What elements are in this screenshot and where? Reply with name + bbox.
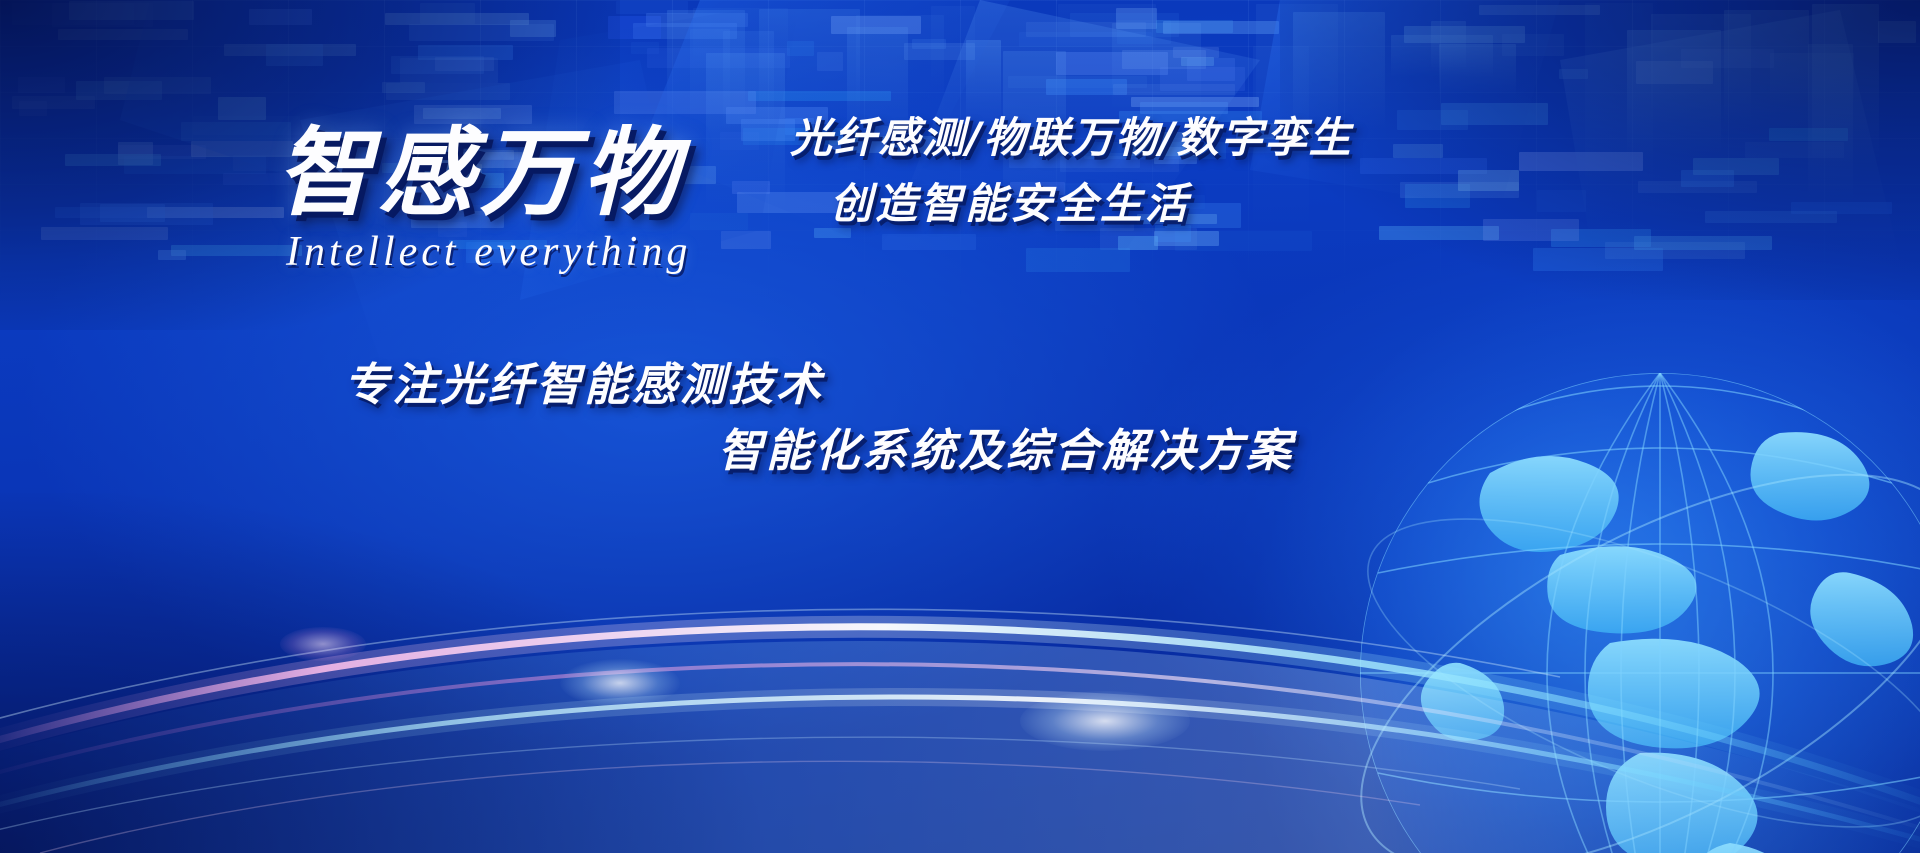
grid-bar <box>1458 170 1519 191</box>
grid-slab <box>690 29 730 135</box>
grid-bar <box>1705 211 1837 223</box>
grid-bar <box>510 20 556 37</box>
grid-bar <box>65 154 161 166</box>
grid-bar <box>382 82 425 93</box>
subtitle-english: Intellect everything <box>286 228 691 276</box>
grid-bar <box>171 245 302 256</box>
grid-bar <box>181 122 291 141</box>
grid-bar <box>249 9 312 25</box>
tagline-line-1: 光纤感测/物联万物/数字孪生 <box>790 104 1353 165</box>
grid-bar <box>435 57 494 71</box>
grid-bar <box>18 77 65 93</box>
grid-bar <box>1379 226 1499 240</box>
grid-bar <box>1537 190 1586 212</box>
grid-slab <box>1812 4 1879 163</box>
grid-bar <box>19 101 47 116</box>
grid-bar <box>1483 219 1579 241</box>
grid-bar <box>1154 231 1219 246</box>
grid-bar <box>1479 5 1600 15</box>
grid-bar <box>158 250 186 260</box>
message-line-2: 智能化系统及综合解决方案 <box>718 414 1294 479</box>
grid-slab <box>1439 44 1516 95</box>
grid-bar <box>1634 236 1772 250</box>
grid-bar <box>1026 248 1130 272</box>
grid-bar <box>58 29 188 40</box>
light-streak-svg <box>0 433 1920 853</box>
grid-bar <box>420 3 475 24</box>
promo-banner: 智感万物 Intellect everything 光纤感测/物联万物/数字孪生… <box>0 0 1920 853</box>
grid-slab <box>1585 3 1653 190</box>
grid-bar <box>690 213 748 230</box>
message-line-1: 专注光纤智能感测技术 <box>344 348 824 413</box>
grid-bar <box>721 231 771 249</box>
grid-bar <box>1693 158 1779 175</box>
grid-bar <box>41 227 168 240</box>
grid-slab <box>1058 4 1156 52</box>
grid-bar <box>1441 103 1548 125</box>
grid-slab <box>931 6 975 89</box>
grid-bar <box>882 234 976 250</box>
page-title: 智感万物 <box>276 95 684 234</box>
grid-bar <box>266 44 323 66</box>
grid-bar <box>104 77 211 94</box>
light-streak-graphic <box>0 433 1920 853</box>
grid-bar <box>1878 21 1916 43</box>
tagline-line-2: 创造智能安全生活 <box>830 170 1190 231</box>
grid-bar <box>80 203 213 225</box>
grid-bar <box>69 1 194 20</box>
grid-bar <box>1559 69 1588 79</box>
grid-slab <box>1651 14 1751 121</box>
grid-bar <box>1393 144 1443 158</box>
